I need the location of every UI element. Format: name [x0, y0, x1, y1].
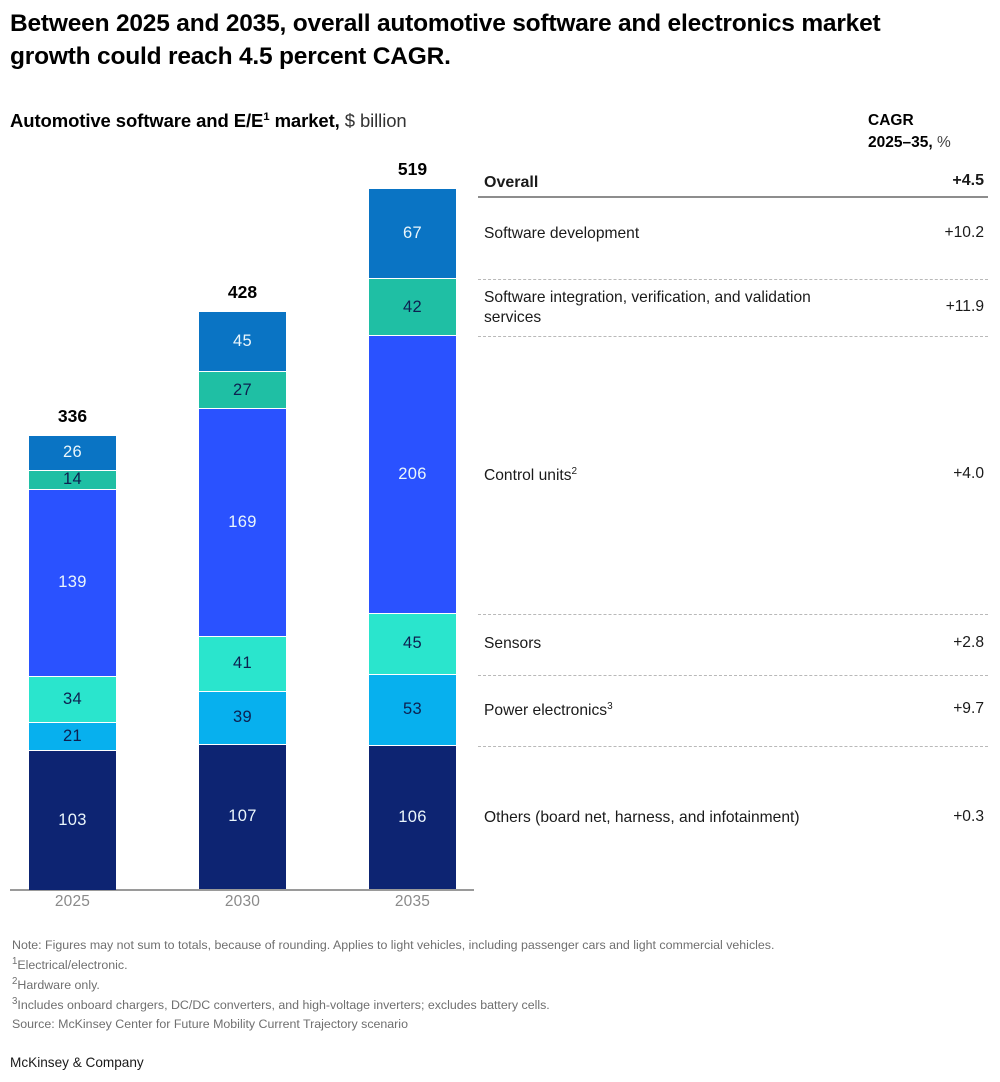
bar-segment[interactable]: 106	[369, 746, 456, 889]
segment-value-label: 67	[403, 224, 422, 243]
bar-segment[interactable]: 39	[199, 692, 286, 745]
row-cagr-value: +4.0	[953, 465, 984, 483]
table-divider-dashed	[478, 336, 988, 337]
cagr-column-header: CAGR 2025–35, %	[868, 110, 951, 154]
bar-segment[interactable]: 169	[199, 409, 286, 637]
bar-total-label: 428	[199, 282, 286, 303]
segment-value-label: 39	[233, 708, 252, 727]
cagr-header-percent: %	[933, 134, 951, 151]
bar-segment[interactable]: 67	[369, 189, 456, 279]
cagr-header-line2: 2025–35, %	[868, 132, 951, 154]
footnotes: Note: Figures may not sum to totals, bec…	[12, 936, 952, 1034]
x-axis-label-2035: 2035	[369, 893, 456, 911]
stacked-bar-chart: 2614139342110333620254527169413910742820…	[0, 0, 475, 930]
row-label: Sensors	[484, 634, 864, 655]
row-label-footnote-marker: 2	[572, 466, 578, 477]
bar-2025[interactable]: 26141393421103	[29, 436, 116, 889]
row-cagr-value: +10.2	[945, 224, 984, 242]
bar-segment[interactable]: 139	[29, 490, 116, 677]
row-label: Overall	[484, 172, 864, 193]
mckinsey-logo: McKinsey & Company	[10, 1055, 144, 1070]
segment-value-label: 139	[58, 573, 86, 592]
segment-value-label: 34	[63, 690, 82, 709]
segment-value-label: 27	[233, 381, 252, 400]
bar-segment[interactable]: 107	[199, 745, 286, 889]
segment-value-label: 21	[63, 727, 82, 746]
bar-total-label: 519	[369, 159, 456, 180]
x-axis-label-2030: 2030	[199, 893, 286, 911]
table-divider-solid	[478, 196, 988, 198]
bar-segment[interactable]: 206	[369, 336, 456, 614]
row-label: Power electronics3	[484, 700, 864, 722]
bar-segment[interactable]: 53	[369, 675, 456, 746]
segment-value-label: 45	[403, 634, 422, 653]
segment-value-label: 103	[58, 811, 86, 830]
row-cagr-value: +2.8	[953, 634, 984, 652]
bar-segment[interactable]: 26	[29, 436, 116, 471]
bar-total-label: 336	[29, 406, 116, 427]
footnote-2-text: Hardware only.	[17, 978, 99, 992]
segment-value-label: 106	[398, 808, 426, 827]
cagr-header-years: 2025–35,	[868, 134, 933, 151]
row-label: Software development	[484, 224, 864, 245]
segment-value-label: 169	[228, 513, 256, 532]
row-cagr-value: +11.9	[946, 298, 984, 316]
footnote-1-text: Electrical/electronic.	[17, 958, 127, 972]
segment-value-label: 206	[398, 465, 426, 484]
bar-segment[interactable]: 41	[199, 637, 286, 692]
bar-segment[interactable]: 34	[29, 677, 116, 723]
segment-value-label: 53	[403, 700, 422, 719]
note-line: Note: Figures may not sum to totals, bec…	[12, 936, 952, 955]
bar-segment[interactable]: 27	[199, 372, 286, 408]
table-divider-dashed	[478, 675, 988, 676]
bar-2035[interactable]: 67422064553106	[369, 189, 456, 889]
segment-value-label: 26	[63, 443, 82, 462]
row-cagr-value: +4.5	[952, 172, 984, 190]
table-divider-dashed	[478, 746, 988, 747]
x-axis-label-2025: 2025	[29, 893, 116, 911]
cagr-header-line1: CAGR	[868, 110, 951, 132]
segment-value-label: 107	[228, 807, 256, 826]
segment-value-label: 45	[233, 332, 252, 351]
footnote-3: 3Includes onboard chargers, DC/DC conver…	[12, 995, 952, 1015]
source-line: Source: McKinsey Center for Future Mobil…	[12, 1015, 952, 1034]
bar-segment[interactable]: 14	[29, 471, 116, 490]
segment-value-label: 14	[63, 470, 82, 489]
bar-2030[interactable]: 45271694139107	[199, 312, 286, 889]
row-label-footnote-marker: 3	[607, 701, 613, 712]
row-cagr-value: +9.7	[953, 700, 984, 718]
segment-value-label: 41	[233, 654, 252, 673]
bar-segment[interactable]: 21	[29, 723, 116, 751]
row-cagr-value: +0.3	[953, 808, 984, 826]
table-divider-dashed	[478, 614, 988, 615]
row-label: Others (board net, harness, and infotain…	[484, 808, 864, 829]
bar-segment[interactable]: 103	[29, 751, 116, 890]
footnote-1: 1Electrical/electronic.	[12, 955, 952, 975]
chart-page: Between 2025 and 2035, overall automotiv…	[0, 0, 1000, 1082]
footnote-3-text: Includes onboard chargers, DC/DC convert…	[17, 998, 549, 1012]
row-label: Control units2	[484, 465, 864, 487]
bar-segment[interactable]: 45	[199, 312, 286, 373]
bar-segment[interactable]: 45	[369, 614, 456, 675]
bar-segment[interactable]: 42	[369, 279, 456, 336]
segment-value-label: 42	[403, 298, 422, 317]
table-divider-dashed	[478, 279, 988, 280]
row-label: Software integration, verification, and …	[484, 288, 864, 329]
footnote-2: 2Hardware only.	[12, 975, 952, 995]
